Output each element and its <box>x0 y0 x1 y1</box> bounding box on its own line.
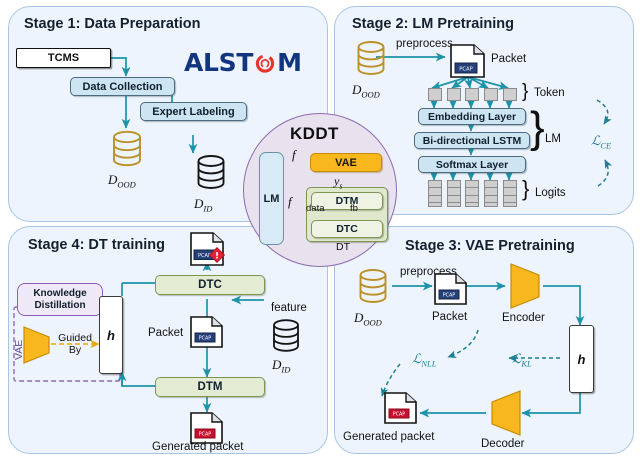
logits-label: Logits <box>535 187 566 199</box>
token-cell <box>465 88 479 101</box>
kddt-edge-data: data <box>306 203 325 214</box>
lm-brace: } <box>530 106 545 150</box>
kddt-edge-fb: fb <box>350 203 358 214</box>
packet-icon-stage2: PCAP <box>450 44 486 78</box>
packet-label-stage4: Packet <box>148 327 183 339</box>
svg-text:PCAP: PCAP <box>443 293 456 299</box>
kd-line-1: Knowledge <box>33 288 86 299</box>
guided-by-line-1: Guided <box>58 332 92 344</box>
dataset-id-label-stage1: DID <box>194 196 212 214</box>
svg-text:!: ! <box>215 251 219 261</box>
alstom-wordmark-left: ALST <box>184 48 253 77</box>
kddt-edge-ys: ys <box>334 174 342 190</box>
kddt-lm-box[interactable]: LM <box>259 152 284 245</box>
kddt-vae-box[interactable]: VAE <box>310 153 382 172</box>
preprocess-label-stage2: preprocess <box>396 38 453 50</box>
generated-packet-icon-stage3: PCAP <box>384 392 418 424</box>
tcms-box[interactable]: TCMS <box>16 48 111 68</box>
token-label: Token <box>534 87 565 99</box>
stage4-dtc-box[interactable]: DTC <box>155 275 265 295</box>
dataset-id-label-stage4: DID <box>272 357 290 375</box>
alstom-o-icon <box>253 51 277 75</box>
svg-text:PCAP: PCAP <box>459 66 472 72</box>
token-cell <box>428 88 442 101</box>
stage-3-title: Stage 3: VAE Pretraining <box>405 238 575 254</box>
kddt-dt-label: DT <box>336 241 350 253</box>
kddt-edge-f-top: f <box>292 147 296 163</box>
generated-packet-label-stage4: Generated packet <box>152 441 243 453</box>
generated-packet-label-stage3: Generated packet <box>343 431 434 443</box>
stage4-dtm-box[interactable]: DTM <box>155 377 265 397</box>
svg-text:PCAP: PCAP <box>393 412 406 418</box>
logits-column <box>484 180 498 207</box>
svg-text:PCAP: PCAP <box>199 432 212 438</box>
token-cell <box>447 88 461 101</box>
stage-1-title: Stage 1: Data Preparation <box>24 16 200 32</box>
vae-decoder-icon-stage4 <box>21 325 53 365</box>
kd-line-2: Distillation <box>34 300 85 311</box>
token-cell <box>503 88 517 101</box>
stage-2-title: Stage 2: LM Pretraining <box>352 16 514 32</box>
logits-brace: } <box>522 178 529 200</box>
guided-by-label: Guided By <box>53 332 97 356</box>
encoder-label-stage3: Encoder <box>502 312 545 324</box>
dataset-ood-label-stage3: DOOD <box>354 310 382 328</box>
latent-h-box-stage3[interactable]: h <box>569 325 594 393</box>
alstom-logo: ALSTM <box>184 48 302 77</box>
alstom-wordmark-right: M <box>277 48 302 77</box>
dataset-id-icon-stage4 <box>269 318 303 356</box>
token-brace: } <box>522 82 528 101</box>
bilstm-layer-box[interactable]: Bi-directional LSTM <box>414 132 530 149</box>
loss-nll-label: ℒNLL <box>412 351 437 369</box>
anomaly-packet-icon-stage4: PCAP ! <box>190 232 226 268</box>
kddt-dtc-box[interactable]: DTC <box>311 220 383 238</box>
logits-column <box>447 180 461 207</box>
logits-column <box>428 180 442 207</box>
generated-packet-icon-stage4: PCAP <box>190 412 224 444</box>
logits-column <box>503 180 517 207</box>
figure-root: Stage 1: Data Preparation TCMS Data Coll… <box>0 0 640 458</box>
stage-4-title: Stage 4: DT training <box>28 237 165 253</box>
dataset-ood-label-stage1: DOOD <box>108 172 136 190</box>
lm-bracket-label: LM <box>545 133 561 145</box>
logits-column <box>465 180 479 207</box>
dataset-ood-icon-stage3 <box>355 268 391 308</box>
packet-icon-stage4: PCAP <box>190 316 224 348</box>
softmax-layer-box[interactable]: Softmax Layer <box>418 156 526 173</box>
kddt-edge-f-bottom: f <box>288 194 292 210</box>
latent-h-box-stage4[interactable]: h <box>99 296 123 374</box>
loss-ce-label: ℒCE <box>591 133 611 151</box>
guided-by-line-2: By <box>69 344 81 356</box>
dataset-id-icon-stage1 <box>193 154 229 194</box>
token-cell <box>484 88 498 101</box>
data-collection-box[interactable]: Data Collection <box>70 77 175 96</box>
svg-text:PCAP: PCAP <box>198 253 211 259</box>
decoder-label-stage3: Decoder <box>481 438 524 450</box>
dataset-ood-icon-stage1 <box>108 129 146 169</box>
encoder-icon-stage3 <box>507 262 545 310</box>
packet-label-stage3: Packet <box>432 311 467 323</box>
kddt-title: KDDT <box>290 124 339 144</box>
dataset-ood-label-stage2: DOOD <box>352 82 380 100</box>
knowledge-distillation-box[interactable]: Knowledge Distillation <box>17 283 103 316</box>
embedding-layer-box[interactable]: Embedding Layer <box>418 108 526 125</box>
packet-icon-stage3: PCAP <box>434 273 468 305</box>
decoder-icon-stage3 <box>486 389 524 437</box>
packet-label-stage2: Packet <box>491 53 526 65</box>
dataset-ood-icon-stage2 <box>353 40 389 80</box>
feature-label-stage4: feature <box>271 302 307 314</box>
loss-kl-label: ℒKL <box>512 351 532 369</box>
expert-labeling-box[interactable]: Expert Labeling <box>140 102 247 121</box>
svg-text:PCAP: PCAP <box>199 336 212 342</box>
